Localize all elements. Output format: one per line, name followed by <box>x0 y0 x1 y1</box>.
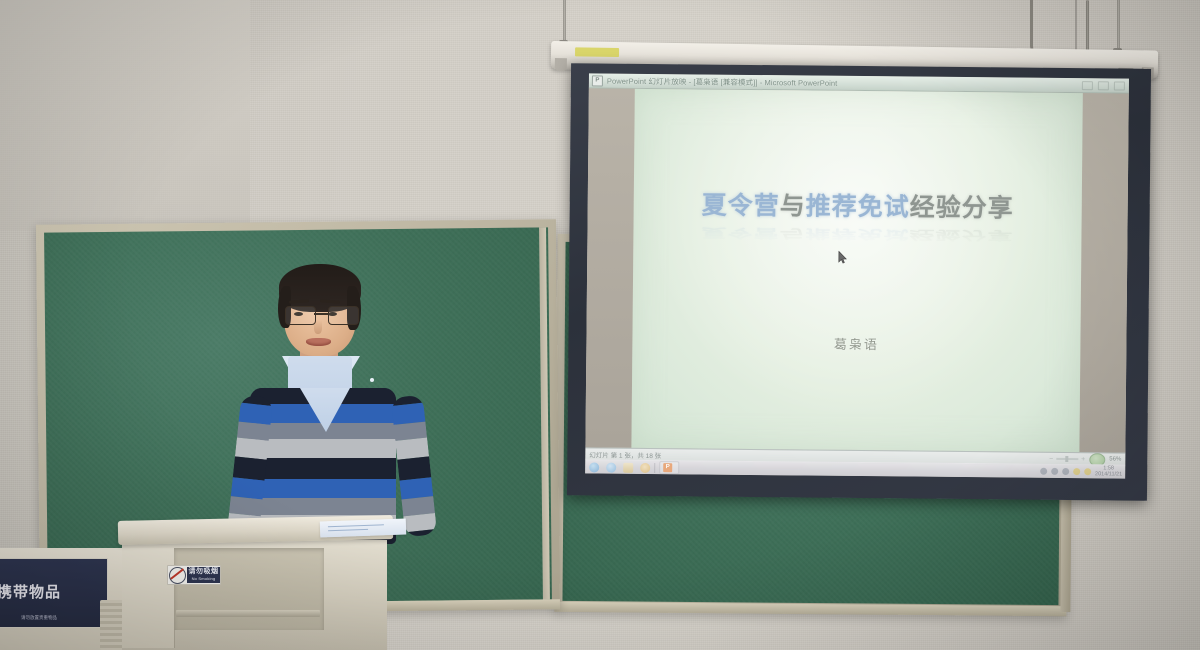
slide-title-seg-2: 与 <box>780 191 806 220</box>
no-smoking-label-cn: 请勿吸烟 <box>187 567 220 576</box>
slide-title-seg-1: 夏令营 <box>702 190 780 220</box>
no-smoking-icon <box>169 567 186 584</box>
close-icon[interactable] <box>1114 81 1125 90</box>
network-icon[interactable] <box>1040 468 1047 475</box>
projector-hotspot-glow <box>631 89 1082 452</box>
minimize-icon[interactable] <box>1082 81 1093 90</box>
system-tray: 1:58 2014/11/21 <box>1040 465 1125 477</box>
slide-title-reflect-seg-4: 经验分享 <box>909 227 1013 242</box>
presenter-mouth <box>306 338 331 346</box>
ceiling-power-cord <box>1030 0 1036 52</box>
folder-icon[interactable] <box>623 462 633 472</box>
glasses-bridge <box>314 313 328 315</box>
presenter-nose <box>314 320 322 334</box>
powerpoint-app-icon: P <box>592 75 603 86</box>
housing-endcap-left <box>555 58 567 71</box>
volume-icon[interactable] <box>1051 468 1058 475</box>
zoom-slider[interactable] <box>1056 458 1078 460</box>
powerpoint-task[interactable]: P <box>659 461 679 474</box>
slide-title-seg-4: 经验分享 <box>910 192 1014 222</box>
clock-date: 2014/11/21 <box>1095 472 1122 478</box>
mouse-cursor-icon <box>838 251 847 264</box>
slide-title-reflect-seg-3: 推荐免试 <box>805 226 909 241</box>
no-smoking-label-en: No Smoking <box>187 576 220 582</box>
lectern-left-front <box>122 548 175 648</box>
internet-explorer-icon[interactable] <box>606 462 616 472</box>
sweater-stripe <box>250 479 396 498</box>
lectern-keyboard-tray[interactable] <box>176 610 320 617</box>
lectern-equipment-bay <box>174 548 324 630</box>
slide-canvas[interactable]: 夏令营与推荐免试经验分享 夏令营与推荐免试经验分享 葛枭语 <box>631 89 1082 452</box>
restore-icon[interactable] <box>1098 81 1109 90</box>
housing-warning-label <box>575 47 619 57</box>
slide-title-reflection: 夏令营与推荐免试经验分享 <box>633 224 1081 246</box>
sweater-stripe <box>250 458 396 479</box>
update-icon[interactable] <box>1084 468 1091 475</box>
cabinet-sign-text: 携带物品 <box>0 581 103 602</box>
glasses-lens-right <box>328 306 359 325</box>
classroom-presentation-photo: P PowerPoint 幻灯片放映 - [葛枭语 [兼容模式]] - Micr… <box>0 0 1200 650</box>
powerpoint-taskbar-icon: P <box>663 463 672 472</box>
ceiling-hanger-cable <box>1086 0 1089 56</box>
projector-screen: P PowerPoint 幻灯片放映 - [葛枭语 [兼容模式]] - Micr… <box>567 63 1151 501</box>
slide-title-seg-3: 推荐免试 <box>806 191 910 221</box>
start-orb-icon[interactable] <box>589 462 599 472</box>
sweater-stripe <box>250 498 396 515</box>
letterbox-band-right <box>1079 93 1128 452</box>
presenter-arm-right <box>391 395 437 538</box>
slide-title-reflect-seg-1: 夏令营 <box>701 225 779 240</box>
cabinet-notice-sign: 携带物品 请勿放置贵重物品 <box>0 558 108 628</box>
screen-hanger-rod-right <box>1117 0 1120 52</box>
projection-surface: P PowerPoint 幻灯片放映 - [葛枭语 [兼容模式]] - Micr… <box>585 73 1129 478</box>
shield-icon[interactable] <box>1073 468 1080 475</box>
quick-launch-bar <box>585 462 650 473</box>
no-smoking-label: 请勿吸烟 No Smoking <box>187 567 220 583</box>
zoom-percent-label: 56% <box>1109 456 1121 462</box>
slide-title-reflect-seg-2: 与 <box>779 226 805 241</box>
paper-text-line <box>328 529 368 532</box>
language-icon[interactable] <box>1062 468 1069 475</box>
taskbar-separator <box>654 463 655 473</box>
window-controls[interactable] <box>1082 81 1125 90</box>
glasses-lens-left <box>285 306 316 325</box>
media-player-icon[interactable] <box>640 462 650 472</box>
taskbar-clock[interactable]: 1:58 2014/11/21 <box>1095 466 1122 478</box>
shirt-button <box>370 378 374 382</box>
slide-title: 夏令营与推荐免试经验分享 <box>634 185 1082 225</box>
slide-viewport: 夏令营与推荐免试经验分享 夏令营与推荐免试经验分享 葛枭语 <box>585 88 1128 452</box>
sweater-stripe <box>250 439 396 458</box>
lectern <box>118 518 393 650</box>
no-smoking-sign: 请勿吸烟 No Smoking <box>167 565 221 585</box>
powerpoint-title-text: PowerPoint 幻灯片放映 - [葛枭语 [兼容模式]] - Micros… <box>607 75 838 88</box>
letterbox-band-left <box>585 88 634 447</box>
lectern-paper-notes <box>320 519 407 538</box>
slide-subtitle-presenter-name: 葛枭语 <box>632 332 1080 355</box>
cabinet-sign-subtext-1: 请勿放置贵重物品 <box>21 614 103 621</box>
zoom-slider-knob[interactable] <box>1065 456 1068 462</box>
slide-counter: 幻灯片 第 1 张，共 18 张 <box>589 449 661 460</box>
screen-hanger-rod-left <box>563 0 566 44</box>
paper-text-line <box>328 524 384 527</box>
zoom-control[interactable]: − + <box>1049 455 1085 462</box>
presenter <box>232 268 432 558</box>
wall-shadow-left <box>0 0 250 230</box>
zoom-in-button[interactable]: + <box>1081 456 1085 463</box>
zoom-out-button[interactable]: − <box>1049 455 1053 462</box>
